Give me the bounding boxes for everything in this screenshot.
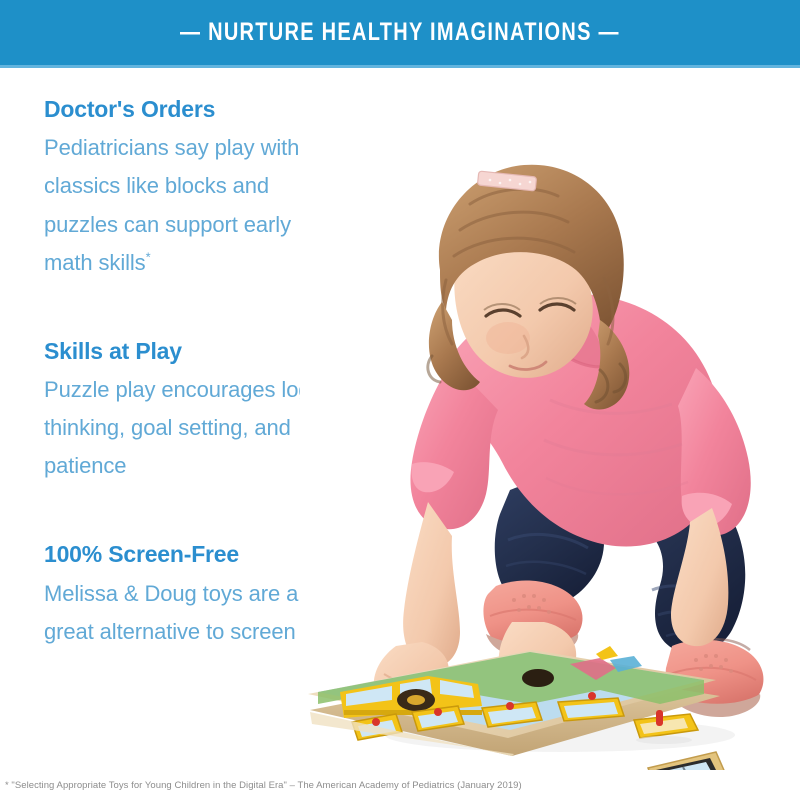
peg-red	[372, 718, 380, 726]
bus-hubcap	[407, 695, 425, 705]
header-underline	[0, 65, 800, 68]
piece-shadow	[636, 736, 692, 744]
block-heading: Skills at Play	[44, 338, 344, 364]
hero-photo	[300, 70, 800, 770]
peg-red	[656, 710, 663, 726]
promo-infographic: — NURTURE HEALTHY IMAGINATIONS — Doctor'…	[0, 0, 800, 800]
feature-block-screen-free: 100% Screen-Free Melissa & Doug toys are…	[44, 541, 344, 651]
block-body-text: Pediatricians say play with classics lik…	[44, 135, 299, 274]
peg-red	[588, 692, 596, 700]
block-body: Pediatricians say play with classics lik…	[44, 129, 344, 281]
bus-wheel-rear	[522, 669, 554, 687]
feature-block-skills-at-play: Skills at Play Puzzle play encourages lo…	[44, 338, 344, 486]
head-group	[428, 165, 629, 410]
block-body: Puzzle play encourages logical thinking,…	[44, 371, 344, 485]
text-column: Doctor's Orders Pediatricians say play w…	[44, 96, 344, 651]
child-with-puzzle-illustration	[300, 70, 800, 770]
feature-block-doctors-orders: Doctor's Orders Pediatricians say play w…	[44, 96, 344, 282]
peg-red	[506, 702, 514, 710]
peg-red	[434, 708, 442, 716]
block-heading: 100% Screen-Free	[44, 541, 344, 567]
footnote: * "Selecting Appropriate Toys for Young …	[5, 780, 645, 791]
header-title: — NURTURE HEALTHY IMAGINATIONS —	[180, 18, 620, 47]
cheek	[486, 322, 530, 354]
footnote-marker: *	[146, 249, 151, 264]
header-banner: — NURTURE HEALTHY IMAGINATIONS —	[0, 0, 800, 65]
block-body: Melissa & Doug toys are a great alternat…	[44, 575, 344, 651]
block-heading: Doctor's Orders	[44, 96, 344, 122]
